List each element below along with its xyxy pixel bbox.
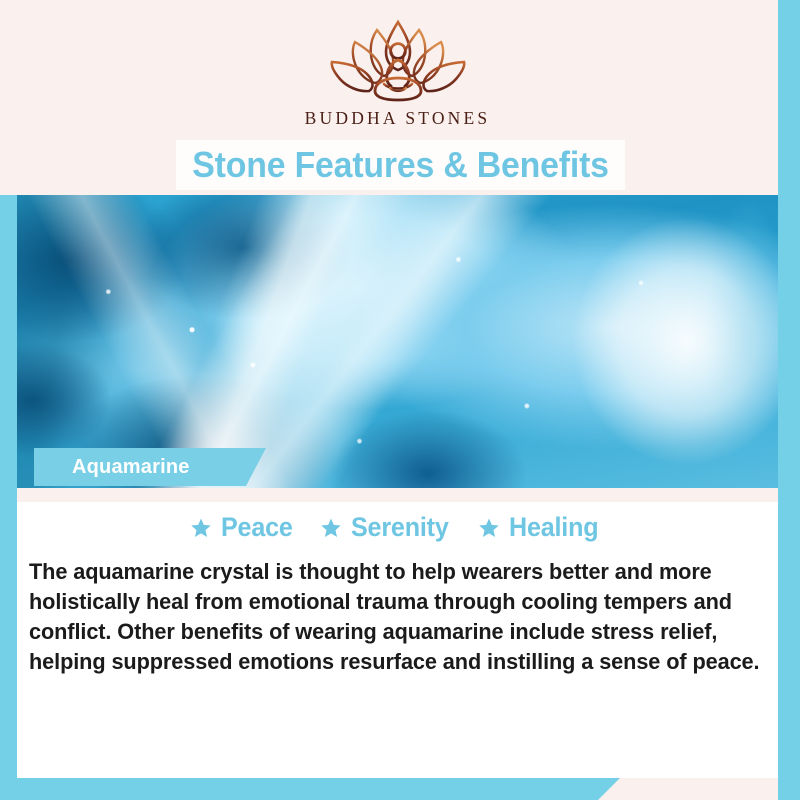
title-banner: Stone Features & Benefits xyxy=(176,140,625,190)
photo-layer-sparkles xyxy=(17,195,778,488)
star-icon xyxy=(478,517,500,539)
decorative-band-right xyxy=(778,0,800,800)
keyword-item: Healing xyxy=(478,512,605,543)
stone-name-badge: Aquamarine xyxy=(34,448,266,486)
brand-name: BUDDHA STONES xyxy=(305,108,491,129)
keyword-item: Peace xyxy=(190,512,298,543)
stone-name-label: Aquamarine xyxy=(72,456,190,479)
decorative-band-left xyxy=(0,195,17,800)
keyword-label: Serenity xyxy=(351,512,449,543)
content-panel: Peace Serenity Healing The aquamarine cr… xyxy=(17,502,778,778)
keyword-row: Peace Serenity Healing xyxy=(17,512,778,543)
star-icon xyxy=(320,517,342,539)
infographic-card: BUDDHA STONES Stone Features & Benefits … xyxy=(0,0,800,800)
keyword-label: Peace xyxy=(221,512,293,543)
page-title: Stone Features & Benefits xyxy=(192,144,609,186)
keyword-item: Serenity xyxy=(320,512,456,543)
star-icon xyxy=(190,517,212,539)
photo-content-divider xyxy=(17,488,778,502)
keyword-label: Healing xyxy=(509,512,598,543)
brand-logo: BUDDHA STONES xyxy=(17,18,778,129)
crystal-photo: Aquamarine xyxy=(17,195,778,488)
description-text: The aquamarine crystal is thought to hel… xyxy=(29,557,768,677)
decorative-band-bottom xyxy=(0,778,620,800)
lotus-meditation-icon xyxy=(314,18,482,104)
